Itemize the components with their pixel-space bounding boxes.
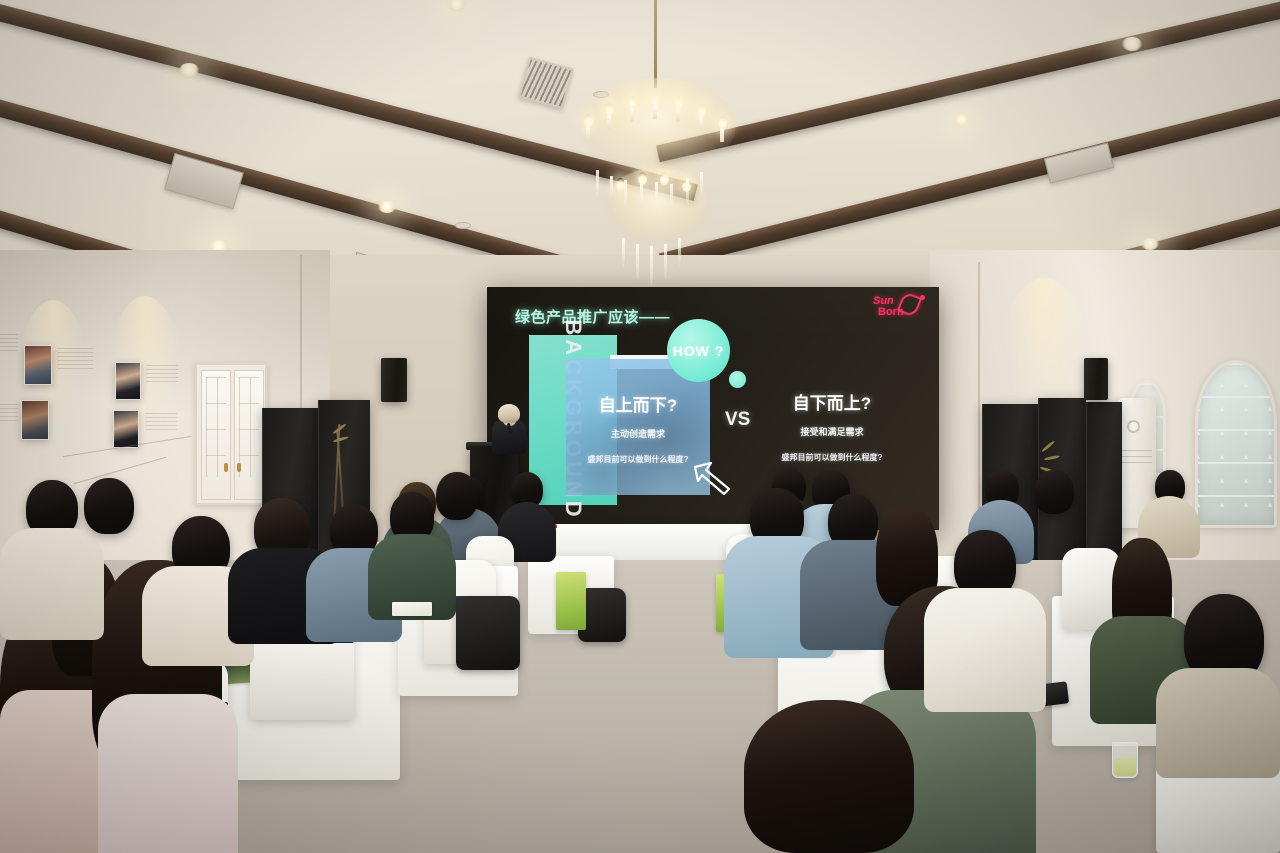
door-leaf-left[interactable] [201,370,231,500]
slide-column-bottom-up: 自下而上? 接受和满足需求 盛邦目前可以做到什么程度? [749,389,915,463]
chandelier-crystal [624,180,627,210]
registered-mark-icon [920,295,925,300]
portrait-image [114,411,138,447]
arched-window [1195,360,1277,528]
chandelier-flame [651,93,660,106]
audience-head [84,478,134,534]
audience-head [436,472,478,520]
slide-column-top-down: 自上而下? 主动创造需求 盛邦目前可以做到什么程度? [571,391,705,465]
ceiling-air-vent [164,153,244,209]
wall-gallery-photo [113,410,139,448]
portrait-image [22,401,48,439]
conference-photo: 绿色产品推广应该—— BACKGROUND HOW ? 自上而下? 主动创造需求… [0,0,1280,853]
column-heading: 自上而下? [571,391,705,416]
ceiling-spotlight [378,201,396,213]
column-subtitle: 主动创造需求 [571,427,705,440]
wall-gallery-photo [21,400,49,440]
column-subtitle: 接受和满足需求 [749,425,915,438]
french-doors[interactable] [195,363,267,505]
chandelier-flame [718,116,727,129]
chandelier-candle [676,108,680,122]
column-question: 盛邦目前可以做到什么程度? [749,452,915,463]
drinking-glass [1112,742,1138,778]
wall-speaker [381,358,407,402]
chandelier-crystal [655,182,658,214]
audience-hair [744,700,914,853]
column-heading: 自下而上? [749,389,915,414]
chandelier-crystal [622,238,625,268]
tote-bag[interactable] [556,572,586,630]
door-glass-pane [239,377,259,477]
backpack[interactable] [456,596,520,670]
chandelier-crystal [596,170,599,198]
how-bubble-dot [729,371,746,388]
ceiling-spotlight [1122,37,1142,51]
chandelier-candle [630,108,634,122]
chandelier-crystal [610,176,613,198]
ac-control-dial[interactable] [1127,420,1140,433]
chandelier-flame [605,103,614,116]
chandelier-crystal [670,184,673,210]
ceiling-spotlight [953,114,970,126]
ac-vent-slit [1122,456,1152,457]
ceiling-spotlight [179,63,199,77]
wall-gallery-caption [146,365,178,385]
ac-vent-slit [1122,462,1152,463]
how-bubble-label: HOW ? [673,343,725,359]
chandelier-flame [697,104,706,117]
presenter-hair [498,404,520,423]
wall-gallery-caption [0,334,18,352]
audience-body [98,694,238,853]
chandelier-rod [654,0,657,88]
door-handle[interactable] [224,463,228,472]
audience-head [1034,470,1074,514]
column-question: 盛邦目前可以做到什么程度? [571,454,705,465]
chandelier-candle [607,115,611,129]
wall-gallery-photo [115,362,141,400]
sunborn-logo: Sun Born [873,295,929,321]
chandelier-candle [699,116,703,130]
how-bubble: HOW ? [667,319,730,382]
presentation-screen: 绿色产品推广应该—— BACKGROUND HOW ? 自上而下? 主动创造需求… [487,287,939,530]
wall-speaker [1084,358,1108,400]
ceiling-spotlight [1141,238,1159,250]
chandelier-flame [584,114,593,127]
chandelier-crystal [636,244,639,280]
wall-gallery-caption [145,413,177,433]
smoke-detector [455,222,471,229]
chandelier-crystal [650,246,653,286]
chandelier-flame [628,96,637,109]
chandelier-candle [720,128,724,142]
arrow-cursor-icon [693,461,733,495]
portrait-image [25,346,51,384]
audience-body [1156,668,1280,778]
vs-label: VS [725,409,750,431]
chandelier-crystal [700,172,703,196]
chandelier-main [560,0,750,320]
ceiling-spotlight [447,0,466,11]
door-leaf-right[interactable] [234,370,264,500]
audience-body [924,588,1046,712]
wall-gallery-caption [57,348,93,370]
chandelier-crystal [678,238,681,266]
wall-gallery-photo [24,345,52,385]
chandelier-candle [653,105,657,119]
decorative-folding-screen [1086,402,1122,570]
handout-paper[interactable] [392,602,432,616]
chandelier-flame [660,172,669,185]
audience-body [0,528,104,640]
ac-vent-slit [1122,450,1152,451]
chandelier-crystal [640,184,643,208]
door-glass-pane [206,377,226,477]
chandelier-crystal [664,244,667,278]
chandelier-flame [674,96,683,109]
door-handle[interactable] [237,463,241,472]
wall-gallery-caption [0,404,18,424]
ceiling-air-vent [1044,142,1114,183]
chandelier-candle [586,126,590,140]
chandelier-crystal [686,178,689,208]
portrait-image [116,363,140,399]
